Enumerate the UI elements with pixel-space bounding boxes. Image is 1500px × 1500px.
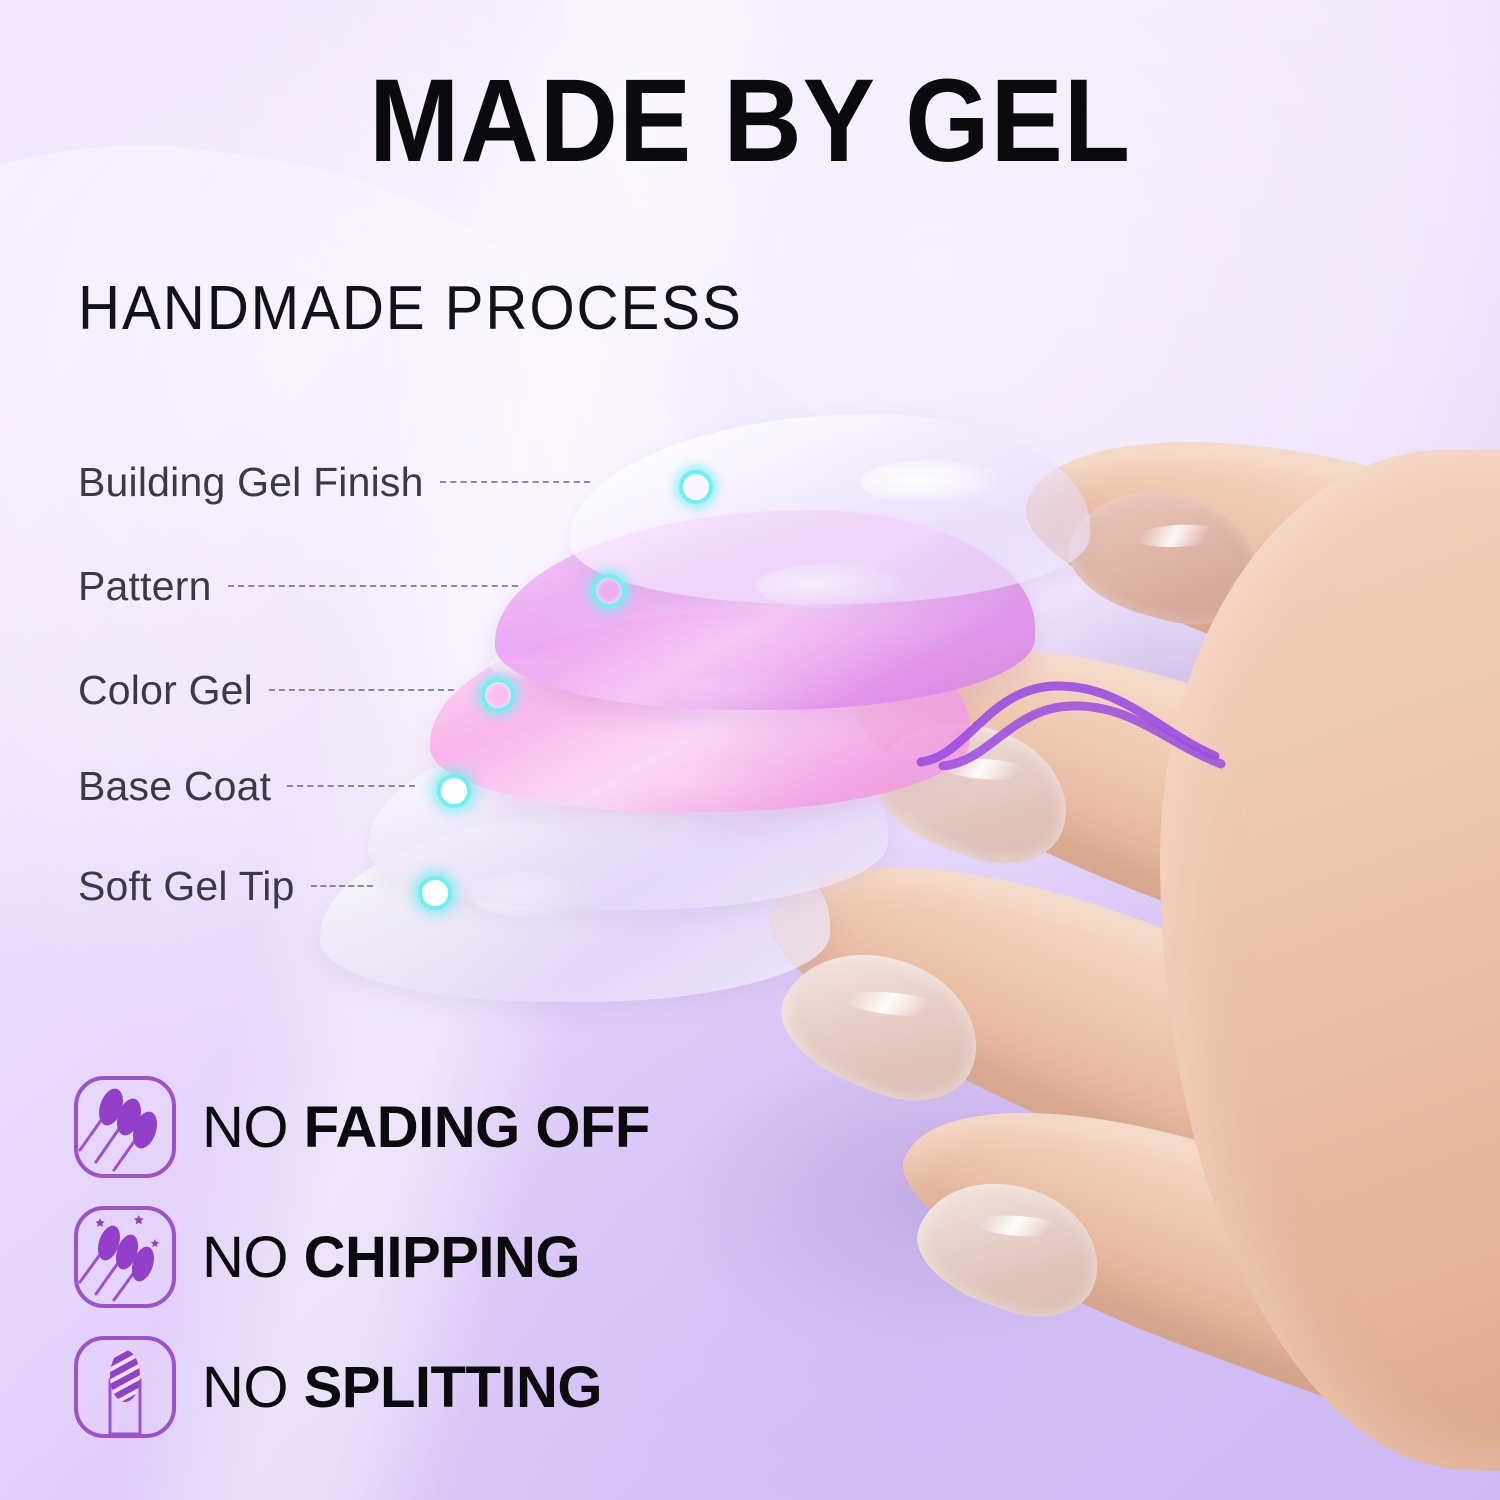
ring-marker-icon [481, 678, 515, 712]
callout-building-gel-finish: Building Gel Finish [78, 458, 602, 506]
single-striped-nail-icon [74, 1336, 176, 1438]
callout-label: Color Gel [78, 667, 253, 714]
feature-prefix: NO [202, 1225, 304, 1290]
callout-label: Building Gel Finish [78, 459, 424, 506]
ring-marker-icon [592, 574, 626, 608]
callout-label: Base Coat [78, 763, 271, 810]
gel-layer-building-gel-finish [570, 414, 1090, 604]
leader-line [311, 885, 373, 887]
leader-line [228, 585, 518, 587]
three-nails-sparkle-icon [74, 1206, 176, 1308]
feature-no-fading-off: NO FADING OFF [74, 1076, 650, 1178]
feature-prefix: NO [202, 1095, 304, 1160]
feature-prefix: NO [202, 1355, 304, 1420]
leader-line [440, 481, 590, 483]
page-title: MADE BY GEL [60, 62, 1440, 180]
solid-marker-icon [437, 774, 471, 808]
feature-emphasis: FADING OFF [304, 1095, 650, 1160]
section-subtitle: HANDMADE PROCESS [78, 278, 743, 340]
product-infographic: Building Gel Finish Pattern Color Gel Ba… [0, 0, 1500, 1500]
callout-base-coat: Base Coat [78, 762, 427, 810]
callout-pattern: Pattern [78, 562, 530, 610]
three-nails-diagonal-icon [74, 1076, 176, 1178]
feature-label: NO SPLITTING [202, 1354, 602, 1421]
leader-line [269, 689, 454, 691]
feature-label: NO FADING OFF [202, 1094, 650, 1161]
callout-color-gel: Color Gel [78, 666, 466, 714]
feature-emphasis: CHIPPING [304, 1225, 580, 1290]
callout-label: Pattern [78, 563, 212, 610]
feature-no-chipping: NO CHIPPING [74, 1206, 580, 1308]
callout-label: Soft Gel Tip [78, 863, 295, 910]
leader-line [287, 785, 415, 787]
feature-no-splitting: NO SPLITTING [74, 1336, 602, 1438]
callout-soft-gel-tip: Soft Gel Tip [78, 862, 385, 910]
ring-marker-icon [679, 470, 713, 504]
feature-emphasis: SPLITTING [304, 1355, 602, 1420]
solid-marker-icon [418, 876, 452, 910]
feature-label: NO CHIPPING [202, 1224, 580, 1291]
pattern-wavy-lines-icon [915, 660, 1235, 770]
